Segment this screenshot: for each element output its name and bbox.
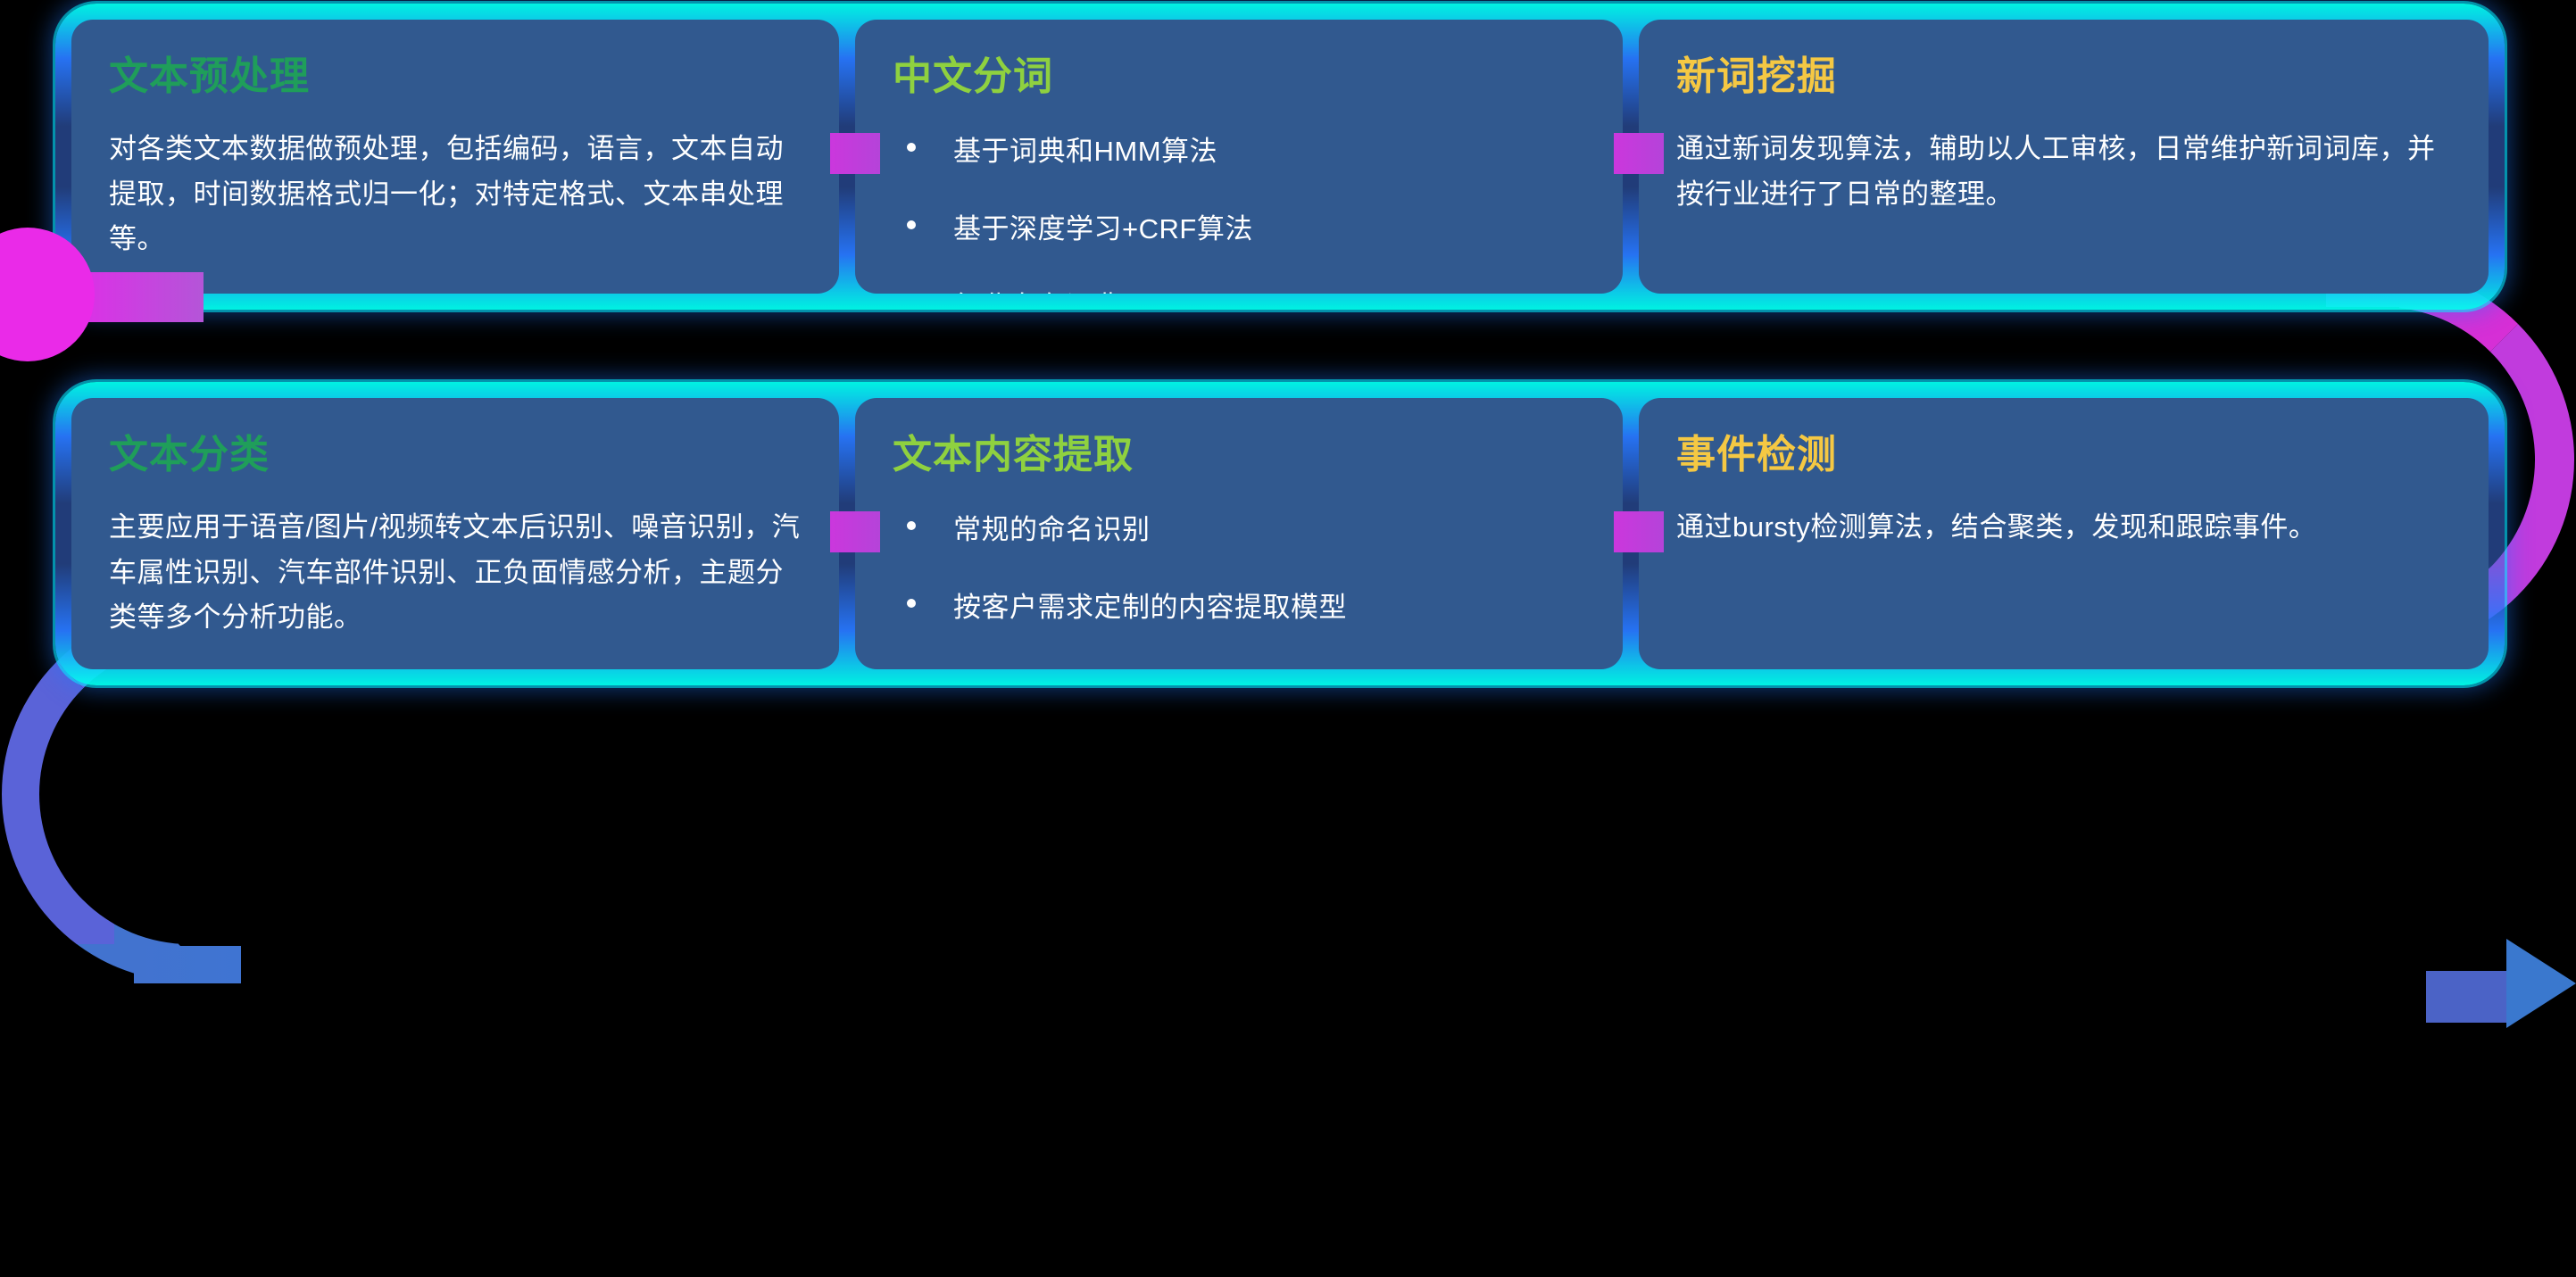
card-row-top: 文本预处理 对各类文本数据做预处理，包括编码，语言，文本自动提取，时间数据格式归… (55, 4, 2505, 310)
card-bullet-list: 常规的命名识别 按客户需求定制的内容提取模型 (893, 507, 1587, 625)
card-text-preprocessing[interactable]: 文本预处理 对各类文本数据做预处理，包括编码，语言，文本自动提取，时间数据格式归… (71, 20, 839, 294)
flow-end-arrow-icon (2506, 939, 2576, 1028)
list-item: 基于深度学习+CRF算法 (893, 206, 1587, 246)
card-body-text: 通过新词发现算法，辅助以人工审核，日常维护新词词库，并按行业进行了日常的整理。 (1676, 127, 2453, 216)
card-connector-1-2 (830, 133, 880, 174)
card-body-text: 通过bursty检测算法，结合聚类，发现和跟踪事件。 (1676, 505, 2453, 550)
card-new-word-discovery[interactable]: 新词挖掘 通过新词发现算法，辅助以人工审核，日常维护新词词库，并按行业进行了日常… (1639, 20, 2489, 294)
left-pipe-stub (134, 946, 241, 983)
list-item: 基于词典和HMM算法 (893, 129, 1587, 169)
card-title: 文本内容提取 (893, 434, 1587, 477)
card-title: 中文分词 (893, 55, 1587, 98)
list-item: 按客户需求定制的内容提取模型 (893, 585, 1587, 625)
list-item: 常规的命名识别 (893, 507, 1587, 547)
card-event-detection[interactable]: 事件检测 通过bursty检测算法，结合聚类，发现和跟踪事件。 (1639, 398, 2489, 669)
exit-connector-bar (2426, 971, 2506, 1023)
card-bullet-list: 基于词典和HMM算法 基于深度学习+CRF算法 行业专有词典 (893, 129, 1587, 294)
card-chinese-word-segmentation[interactable]: 中文分词 基于词典和HMM算法 基于深度学习+CRF算法 行业专有词典 (855, 20, 1623, 294)
card-title: 文本分类 (109, 434, 803, 477)
card-text-content-extraction[interactable]: 文本内容提取 常规的命名识别 按客户需求定制的内容提取模型 (855, 398, 1623, 669)
card-row-bottom: 文本分类 主要应用于语音/图片/视频转文本后识别、噪音识别，汽车属性识别、汽车部… (55, 382, 2505, 685)
card-row-top-inner: 文本预处理 对各类文本数据做预处理，包括编码，语言，文本自动提取，时间数据格式归… (71, 20, 2489, 294)
card-connector-2-3 (1614, 133, 1664, 174)
card-connector-4-5 (830, 511, 880, 552)
card-connector-5-6 (1614, 511, 1664, 552)
card-title: 事件检测 (1676, 434, 2453, 477)
card-row-bottom-inner: 文本分类 主要应用于语音/图片/视频转文本后识别、噪音识别，汽车属性识别、汽车部… (71, 398, 2489, 669)
card-title: 文本预处理 (109, 55, 803, 98)
diagram-stage: 文本预处理 对各类文本数据做预处理，包括编码，语言，文本自动提取，时间数据格式归… (0, 0, 2576, 1277)
card-text-classification[interactable]: 文本分类 主要应用于语音/图片/视频转文本后识别、噪音识别，汽车属性识别、汽车部… (71, 398, 839, 669)
card-title: 新词挖掘 (1676, 55, 2453, 98)
card-body-text: 主要应用于语音/图片/视频转文本后识别、噪音识别，汽车属性识别、汽车部件识别、正… (109, 505, 803, 640)
list-item: 行业专有词典 (893, 284, 1587, 294)
card-body-text: 对各类文本数据做预处理，包括编码，语言，文本自动提取，时间数据格式归一化；对特定… (109, 127, 803, 261)
